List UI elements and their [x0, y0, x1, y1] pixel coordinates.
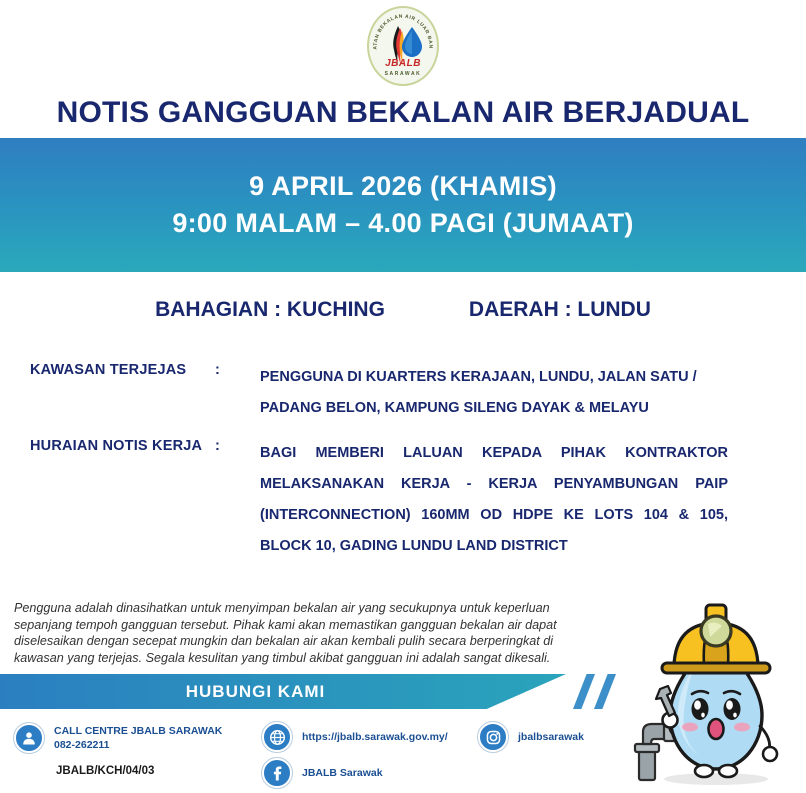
- huraian-notis-kerja-value: BAGI MEMBERI LALUAN KEPADA PIHAK KONTRAK…: [260, 438, 806, 562]
- daerah-label: DAERAH : LUNDU: [469, 298, 651, 322]
- date-banner: 9 APRIL 2026 (KHAMIS) 9:00 MALAM – 4.00 …: [0, 138, 806, 272]
- region-row: BAHAGIAN : KUCHING DAERAH : LUNDU: [0, 298, 806, 322]
- page-title: NOTIS GANGGUAN BEKALAN AIR BERJADUAL: [0, 96, 806, 130]
- huraian-notis-kerja-label: HURAIAN NOTIS KERJA: [0, 438, 215, 562]
- instagram-icon: [478, 722, 508, 752]
- contact-item-instagram[interactable]: jbalbsarawak: [478, 722, 584, 752]
- instagram-handle: jbalbsarawak: [518, 730, 584, 744]
- call-centre-text-group: CALL CENTRE JBALB SARAWAK 082-262211: [54, 724, 222, 752]
- date-line-1: 9 APRIL 2026 (KHAMIS): [249, 171, 557, 202]
- facebook-handle: JBALB Sarawak: [302, 766, 383, 780]
- hard-hat-icon: [662, 605, 770, 673]
- contact-item-call-centre[interactable]: CALL CENTRE JBALB SARAWAK 082-262211: [14, 723, 222, 753]
- call-centre-number: 082-262211: [54, 738, 222, 752]
- contact-bar: HUBUNGI KAMI: [0, 674, 566, 709]
- facebook-icon: [262, 758, 292, 788]
- banner-stripe-1: [573, 674, 595, 709]
- kawasan-terjejas-colon: :: [215, 362, 260, 424]
- water-droplet-worker-mascot: [624, 593, 802, 791]
- banner-stripe-2: [594, 674, 616, 709]
- kawasan-terjejas-label: KAWASAN TERJEJAS: [0, 362, 215, 424]
- reference-code: JBALB/KCH/04/03: [56, 765, 154, 777]
- detail-row-kawasan-terjejas: KAWASAN TERJEJAS : PENGGUNA DI KUARTERS …: [0, 362, 806, 424]
- logo-container: JABATAN BEKALAN AIR LUAR BANDAR JBALB SA…: [0, 6, 806, 86]
- website-url: https://jbalb.sarawak.gov.my/: [302, 730, 448, 744]
- contact-bar-title: HUBUNGI KAMI: [186, 682, 326, 702]
- logo-sub-text: SARAWAK: [369, 71, 437, 77]
- contact-item-website[interactable]: https://jbalb.sarawak.gov.my/: [262, 722, 448, 752]
- jbalb-logo: JABATAN BEKALAN AIR LUAR BANDAR JBALB SA…: [367, 6, 439, 86]
- notice-poster: JABATAN BEKALAN AIR LUAR BANDAR JBALB SA…: [0, 0, 806, 793]
- kawasan-terjejas-value: PENGGUNA DI KUARTERS KERAJAAN, LUNDU, JA…: [260, 362, 806, 424]
- logo-brand-text: JBALB: [369, 58, 437, 69]
- huraian-notis-kerja-colon: :: [215, 438, 260, 562]
- call-centre-label: CALL CENTRE JBALB SARAWAK: [54, 724, 222, 738]
- bahagian-label: BAHAGIAN : KUCHING: [155, 298, 385, 322]
- person-icon: [14, 723, 44, 753]
- date-line-2: 9:00 MALAM – 4.00 PAGI (JUMAAT): [172, 208, 633, 239]
- detail-row-huraian-notis-kerja: HURAIAN NOTIS KERJA : BAGI MEMBERI LALUA…: [0, 438, 806, 562]
- logo-water-drop-icon: [401, 27, 423, 57]
- disclaimer-text: Pengguna adalah dinasihatkan untuk menyi…: [14, 600, 604, 666]
- contact-item-facebook[interactable]: JBALB Sarawak: [262, 758, 383, 788]
- globe-icon: [262, 722, 292, 752]
